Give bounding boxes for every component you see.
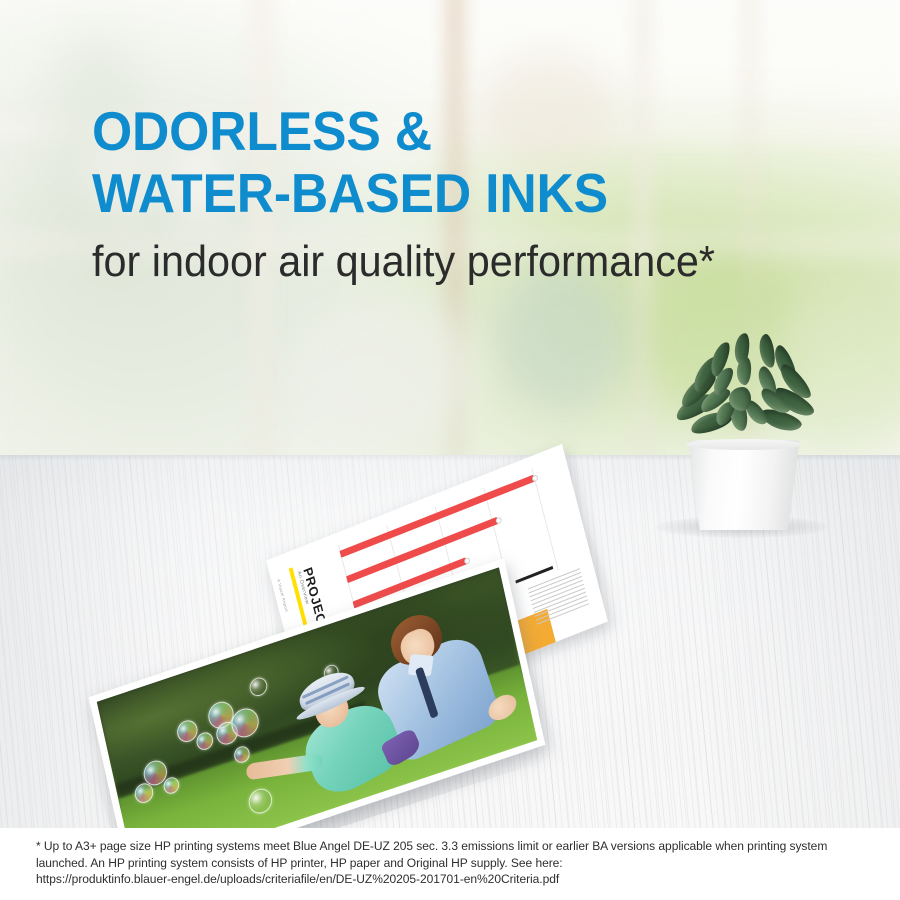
footnote-url: https://produktinfo.blauer-engel.de/uplo…: [36, 871, 847, 888]
background-bokeh: [300, 300, 480, 440]
chart-gridline: [532, 468, 559, 570]
plant-leaf-icon: [729, 387, 751, 411]
plant-pot: [686, 440, 802, 530]
footnote: * Up to A3+ page size HP printing system…: [36, 838, 847, 888]
chart-endpoint-dot: [531, 474, 538, 482]
chart-endpoint-dot: [464, 557, 471, 565]
marketing-hero-image: ODORLESS & WATER-BASED INKS for indoor a…: [0, 0, 900, 900]
chart-endpoint-dot: [495, 516, 502, 524]
headline-block: ODORLESS & WATER-BASED INKS for indoor a…: [92, 100, 862, 288]
document-kicker: A Visual Report: [276, 578, 289, 613]
footnote-line-1: * Up to A3+ page size HP printing system…: [36, 838, 847, 855]
footnote-line-2: launched. An HP printing system consists…: [36, 855, 847, 872]
potted-plant: [668, 336, 828, 526]
headline-line-1: ODORLESS &: [92, 100, 816, 162]
headline-subtitle: for indoor air quality performance*: [92, 236, 816, 288]
plant-pot-rim: [686, 439, 802, 450]
headline-line-2: WATER-BASED INKS: [92, 162, 816, 224]
